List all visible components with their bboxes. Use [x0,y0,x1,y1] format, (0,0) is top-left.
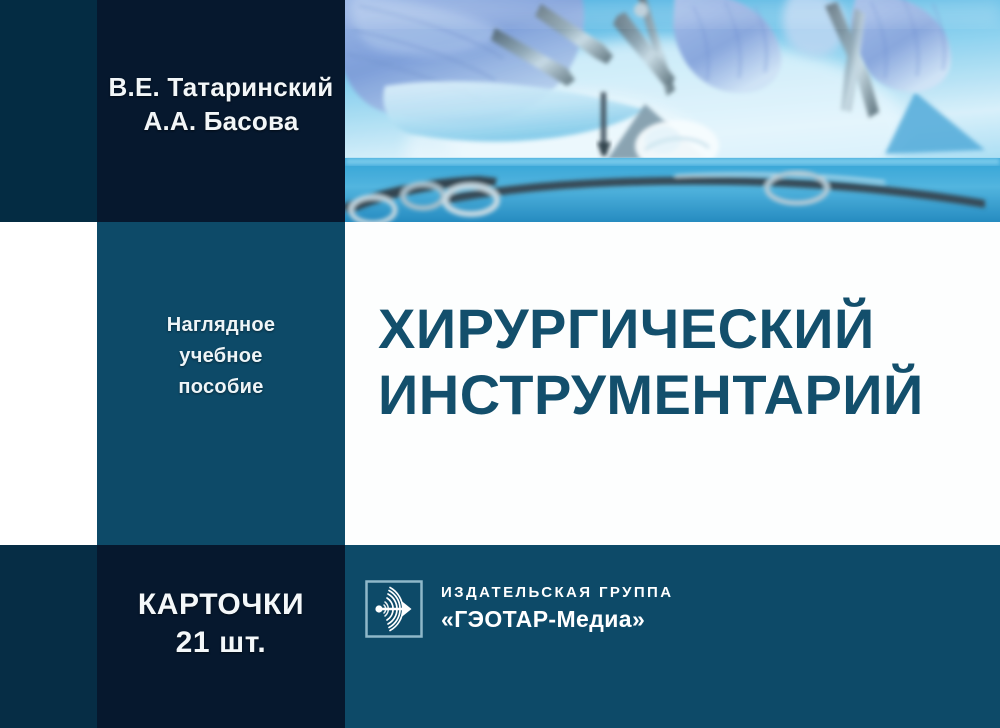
subtitle-block: Наглядное учебное пособие [97,310,345,403]
cards-block: КАРТОЧКИ 21 шт. [97,586,345,663]
panel-top-left-teal [0,0,97,222]
book-cover: В.Е. Татаринский А.А. Басова Наглядное у… [0,0,1000,728]
panel-middle-left-white [0,222,97,545]
publisher-text: ИЗДАТЕЛЬСКАЯ ГРУППА «ГЭОТАР-Медиа» [441,584,673,634]
subtitle-line-1: Наглядное [97,310,345,341]
authors-block: В.Е. Татаринский А.А. Басова [97,70,345,139]
author-1: В.Е. Татаринский [105,70,337,104]
publisher-line-2: «ГЭОТАР-Медиа» [441,605,673,634]
surgical-operation-photo [345,0,1000,222]
cards-label: КАРТОЧКИ [97,586,345,624]
subtitle-line-3: пособие [97,372,345,403]
title-line-2: ИНСТРУМЕНТАРИЙ [378,362,988,428]
publisher-block: ИЗДАТЕЛЬСКАЯ ГРУППА «ГЭОТАР-Медиа» [363,578,673,640]
page-title: ХИРУРГИЧЕСКИЙ ИНСТРУМЕНТАРИЙ [378,296,988,427]
publisher-line-1: ИЗДАТЕЛЬСКАЯ ГРУППА [441,584,673,603]
panel-bottom-left-teal [0,545,97,728]
title-line-1: ХИРУРГИЧЕСКИЙ [378,296,988,362]
subtitle-line-2: учебное [97,341,345,372]
cards-count: 21 шт. [97,624,345,662]
author-2: А.А. Басова [105,104,337,138]
geotar-radiating-arrow-icon [363,578,425,640]
